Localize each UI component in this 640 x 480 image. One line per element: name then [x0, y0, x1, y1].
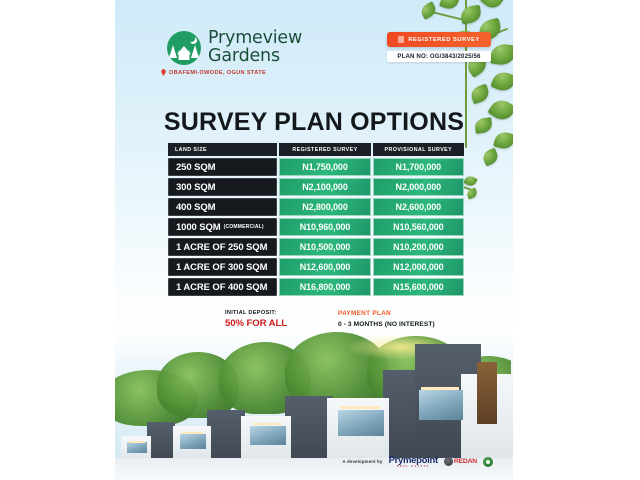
document-icon: [398, 36, 404, 43]
brand-name: Prymeview Gardens: [208, 30, 302, 66]
land-size-value: 250 SQM: [176, 162, 215, 173]
cell-provisional-price: N1,700,000: [373, 158, 464, 176]
cell-registered-price: N1,750,000: [279, 158, 370, 176]
land-size-value: 300 SQM: [176, 182, 215, 193]
cell-land-size: 400 SQM: [168, 198, 277, 216]
cell-land-size: 1 ACRE OF 400 SQM: [168, 278, 277, 296]
cell-provisional-price: N2,000,000: [373, 178, 464, 196]
column-header-provisional-survey: PROVISIONAL SURVEY: [373, 143, 464, 156]
location-line: OBAFEMI-OWODE, OGUN STATE: [161, 69, 266, 76]
column-header-registered-survey: REGISTERED SURVEY: [279, 143, 370, 156]
header: Prymeview Gardens OBAFEMI-OWODE, OGUN ST…: [115, 22, 513, 86]
table-row: 1000 SQM (COMMERCIAL) N10,960,000 N10,56…: [168, 218, 464, 236]
deposit-label: INITIAL DEPOSIT:: [225, 310, 310, 316]
land-size-value: 1 ACRE OF 400 SQM: [176, 282, 267, 293]
cell-registered-price: N12,600,000: [279, 258, 370, 276]
cell-provisional-price: N2,600,000: [373, 198, 464, 216]
registered-survey-badge: REGISTERED SURVEY: [387, 32, 491, 47]
cell-provisional-price: N12,000,000: [373, 258, 464, 276]
cell-registered-price: N16,800,000: [279, 278, 370, 296]
column-header-land-size: LAND SIZE: [168, 143, 277, 156]
estate-house-logo-icon: [167, 31, 201, 65]
deposit-value-line1: 50% FOR ALL: [225, 318, 287, 329]
survey-badge-block: REGISTERED SURVEY PLAN NO: OG/3843/2025/…: [387, 32, 491, 62]
cell-registered-price: N2,800,000: [279, 198, 370, 216]
cell-land-size: 1 ACRE OF 300 SQM: [168, 258, 277, 276]
credit-text: A development by: [343, 459, 383, 464]
footer-credits: A development by Prymepoint REAL ESTATE …: [343, 455, 494, 468]
cell-land-size: 1000 SQM (COMMERCIAL): [168, 218, 277, 236]
table-row: 300 SQM N2,100,000 N2,000,000: [168, 178, 464, 196]
location-text: OBAFEMI-OWODE, OGUN STATE: [169, 70, 266, 76]
brand-name-line2: Gardens: [208, 48, 302, 66]
table-row: 1 ACRE OF 300 SQM N12,600,000 N12,000,00…: [168, 258, 464, 276]
flyer-canvas: Prymeview Gardens OBAFEMI-OWODE, OGUN ST…: [115, 0, 513, 480]
cell-provisional-price: N15,600,000: [373, 278, 464, 296]
table-row: 1 ACRE OF 250 SQM N10,500,000 N10,200,00…: [168, 238, 464, 256]
cell-registered-price: N10,960,000: [279, 218, 370, 236]
land-size-value: 1 ACRE OF 250 SQM: [176, 242, 267, 253]
cell-registered-price: N10,500,000: [279, 238, 370, 256]
cell-registered-price: N2,100,000: [279, 178, 370, 196]
land-size-note: (COMMERCIAL): [224, 224, 264, 230]
prymepoint-logo: Prymepoint REAL ESTATE: [389, 455, 438, 468]
redan-mark-icon: [444, 457, 453, 466]
redan-name: REDAN: [454, 458, 477, 465]
land-size-value: 1 ACRE OF 300 SQM: [176, 262, 267, 273]
page-title: SURVEY PLAN OPTIONS: [115, 108, 513, 137]
payment-plan-heading: PAYMENT PLAN: [338, 310, 438, 317]
villa-unit-front: [415, 344, 513, 462]
table-header-row: LAND SIZE REGISTERED SURVEY PROVISIONAL …: [168, 143, 464, 156]
map-pin-icon: [161, 69, 166, 76]
cell-land-size: 250 SQM: [168, 158, 277, 176]
land-size-value: 400 SQM: [176, 202, 215, 213]
cell-land-size: 300 SQM: [168, 178, 277, 196]
plan-number: PLAN NO: OG/3843/2025/56: [387, 51, 491, 62]
redan-logo: REDAN: [444, 457, 477, 466]
cell-provisional-price: N10,200,000: [373, 238, 464, 256]
cell-land-size: 1 ACRE OF 250 SQM: [168, 238, 277, 256]
table-row: 400 SQM N2,800,000 N2,600,000: [168, 198, 464, 216]
cell-provisional-price: N10,560,000: [373, 218, 464, 236]
certification-seal-icon: [483, 457, 493, 467]
survey-price-table: LAND SIZE REGISTERED SURVEY PROVISIONAL …: [168, 143, 464, 298]
table-row: 1 ACRE OF 400 SQM N16,800,000 N15,600,00…: [168, 278, 464, 296]
land-size-value: 1000 SQM: [176, 222, 221, 233]
brand-logo: Prymeview Gardens: [167, 30, 302, 66]
table-row: 250 SQM N1,750,000 N1,700,000: [168, 158, 464, 176]
badge-label: REGISTERED SURVEY: [408, 37, 480, 43]
